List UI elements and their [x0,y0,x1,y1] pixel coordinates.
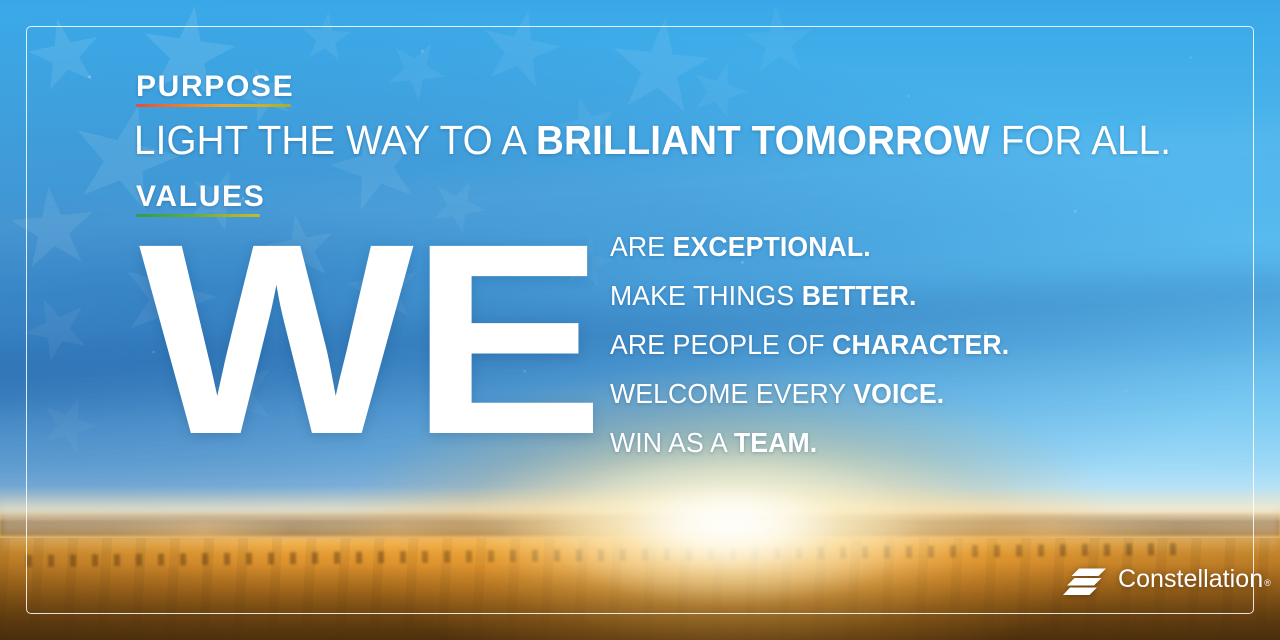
brand-name-text: Constellation [1118,565,1263,593]
constellation-logo-mark-icon [1063,567,1107,596]
value-statement: WELCOME EVERY VOICE. [610,379,1057,409]
values-lead-word-we: WE [139,203,601,475]
value-statement: ARE EXCEPTIONAL. [610,232,1057,262]
purpose-statement: LIGHT THE WAY TO A BRILLIANT TOMORROW FO… [134,116,1171,164]
trademark-symbol: ® [1264,578,1271,588]
poster-content: PURPOSE LIGHT THE WAY TO A BRILLIANT TOM… [0,0,1280,640]
purpose-values-poster: PURPOSE LIGHT THE WAY TO A BRILLIANT TOM… [0,0,1280,640]
value-statement-emphasis: EXCEPTIONAL. [673,231,871,262]
constellation-wordmark: Constellation® [1118,567,1270,597]
constellation-logo[interactable]: Constellation® [1063,566,1270,596]
purpose-kicker-label: PURPOSE [136,70,294,104]
value-statement-prefix: WIN AS A [610,427,734,458]
value-statement: WIN AS A TEAM. [610,428,1057,458]
values-list: ARE EXCEPTIONAL.MAKE THINGS BETTER.ARE P… [610,232,1080,477]
value-statement: ARE PEOPLE OF CHARACTER. [610,330,1057,360]
value-statement-prefix: ARE [610,231,673,262]
purpose-statement-pre: LIGHT THE WAY TO A [134,117,536,163]
value-statement: MAKE THINGS BETTER. [610,281,1057,311]
value-statement-prefix: MAKE THINGS [610,280,802,311]
purpose-statement-post: FOR ALL. [990,117,1171,163]
value-statement-emphasis: BETTER. [802,280,917,311]
value-statement-emphasis: VOICE. [853,378,944,409]
purpose-statement-emphasis: BRILLIANT TOMORROW [536,117,990,163]
purpose-accent-rule [136,104,291,107]
value-statement-prefix: ARE PEOPLE OF [610,329,832,360]
value-statement-emphasis: CHARACTER. [832,329,1009,360]
value-statement-emphasis: TEAM. [734,427,817,458]
value-statement-prefix: WELCOME EVERY [610,378,853,409]
